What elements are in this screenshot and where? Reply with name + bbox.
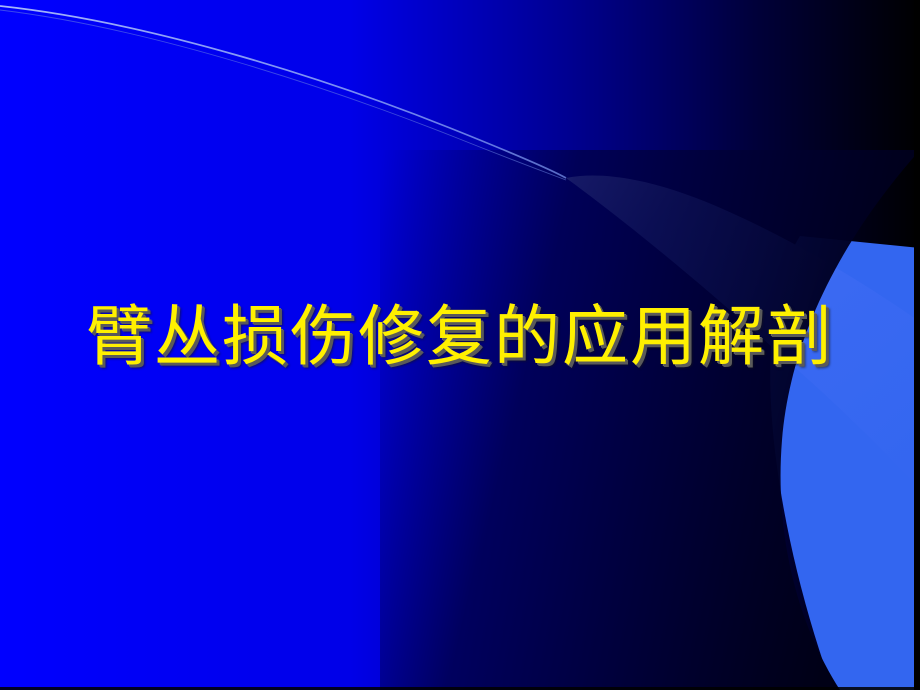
page-title[interactable]: 臂丛损伤修复的应用解剖 [86,302,834,371]
slide-canvas: 臂丛损伤修复的应用解剖 [0,0,920,690]
right-edge-strip [914,0,920,690]
